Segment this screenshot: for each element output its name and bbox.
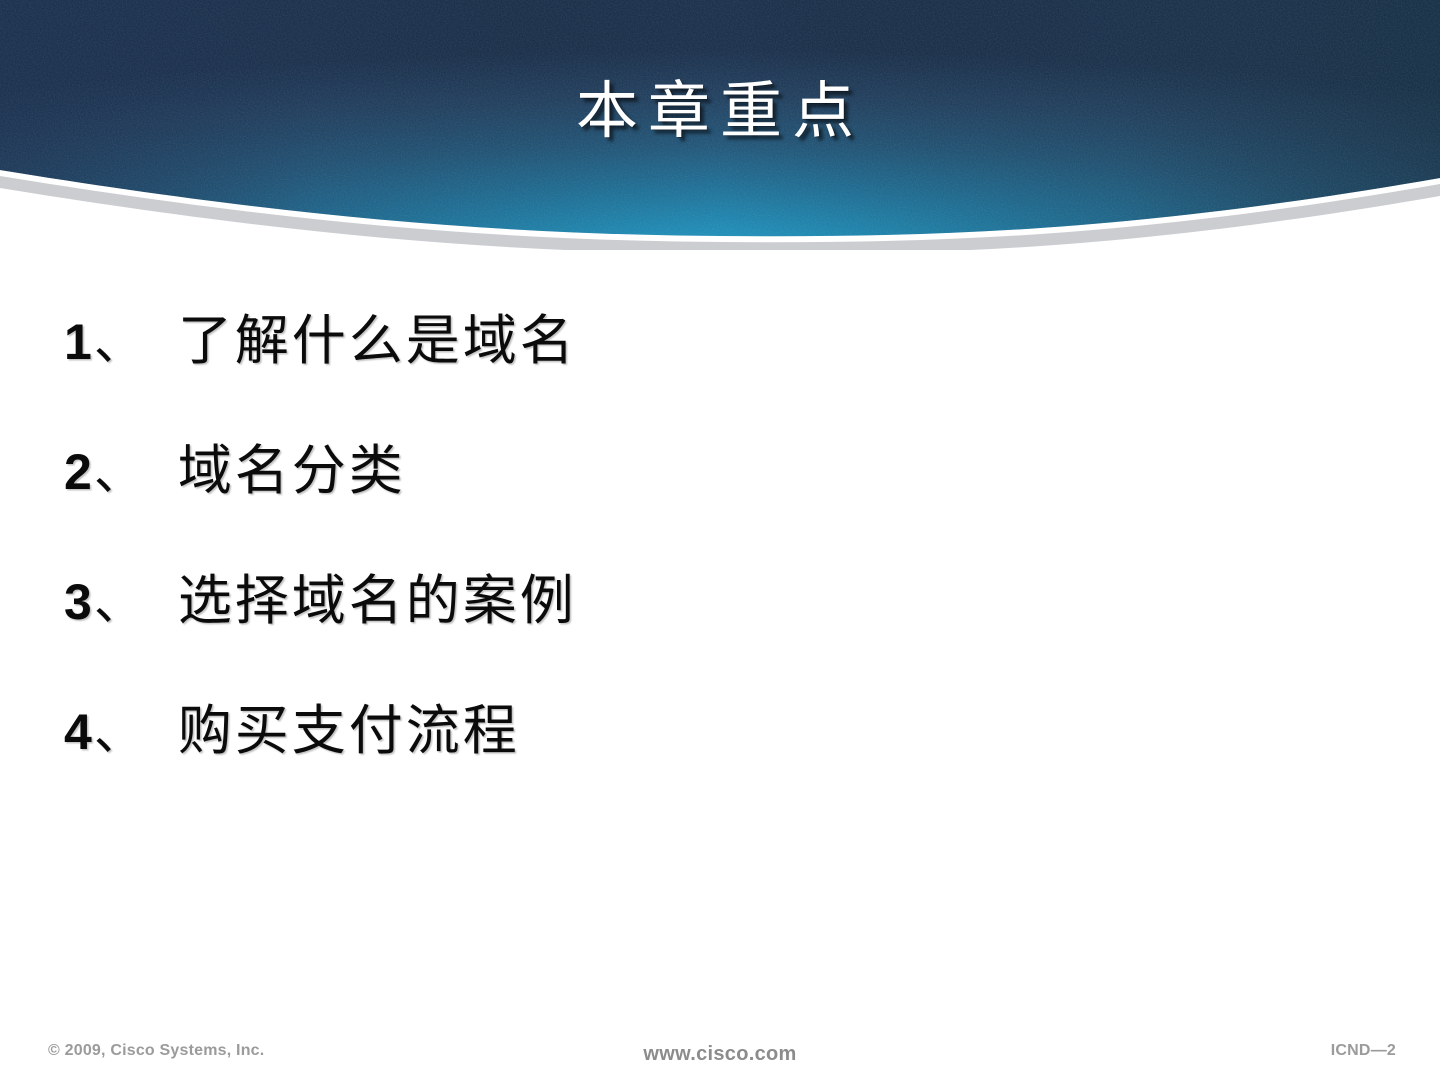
slide: 本章重点 1 、 了解什么是域名 2 、 域名分类 3 、 选择域名的案例 4 … — [0, 0, 1440, 1080]
header-banner: 本章重点 — [0, 0, 1440, 250]
list-item-comma: 、 — [94, 562, 144, 634]
list-item: 2 、 域名分类 — [64, 426, 1364, 556]
cisco-url: www.cisco.com — [0, 1043, 1440, 1066]
list-item-label: 购买支付流程 — [178, 686, 520, 765]
list-item-comma: 、 — [94, 432, 144, 504]
list-item-comma: 、 — [94, 692, 144, 764]
list-item: 3 、 选择域名的案例 — [64, 556, 1364, 686]
list-item: 4 、 购买支付流程 — [64, 686, 1364, 816]
list-item-number: 2 — [64, 443, 92, 501]
slide-footer: © 2009, Cisco Systems, Inc. www.cisco.co… — [0, 1018, 1440, 1080]
list-item: 1 、 了解什么是域名 — [64, 296, 1364, 426]
list-item-number: 1 — [64, 313, 92, 371]
banner-shape — [0, 0, 1440, 250]
list-item-comma: 、 — [94, 302, 144, 374]
list-item-label: 域名分类 — [178, 426, 406, 505]
slide-number: ICND—2 — [1331, 1042, 1396, 1060]
list-item-number: 3 — [64, 573, 92, 631]
list-item-number: 4 — [64, 703, 92, 761]
list-item-label: 了解什么是域名 — [178, 296, 577, 375]
content-list: 1 、 了解什么是域名 2 、 域名分类 3 、 选择域名的案例 4 、 购买支… — [64, 296, 1364, 816]
list-item-label: 选择域名的案例 — [178, 556, 577, 635]
